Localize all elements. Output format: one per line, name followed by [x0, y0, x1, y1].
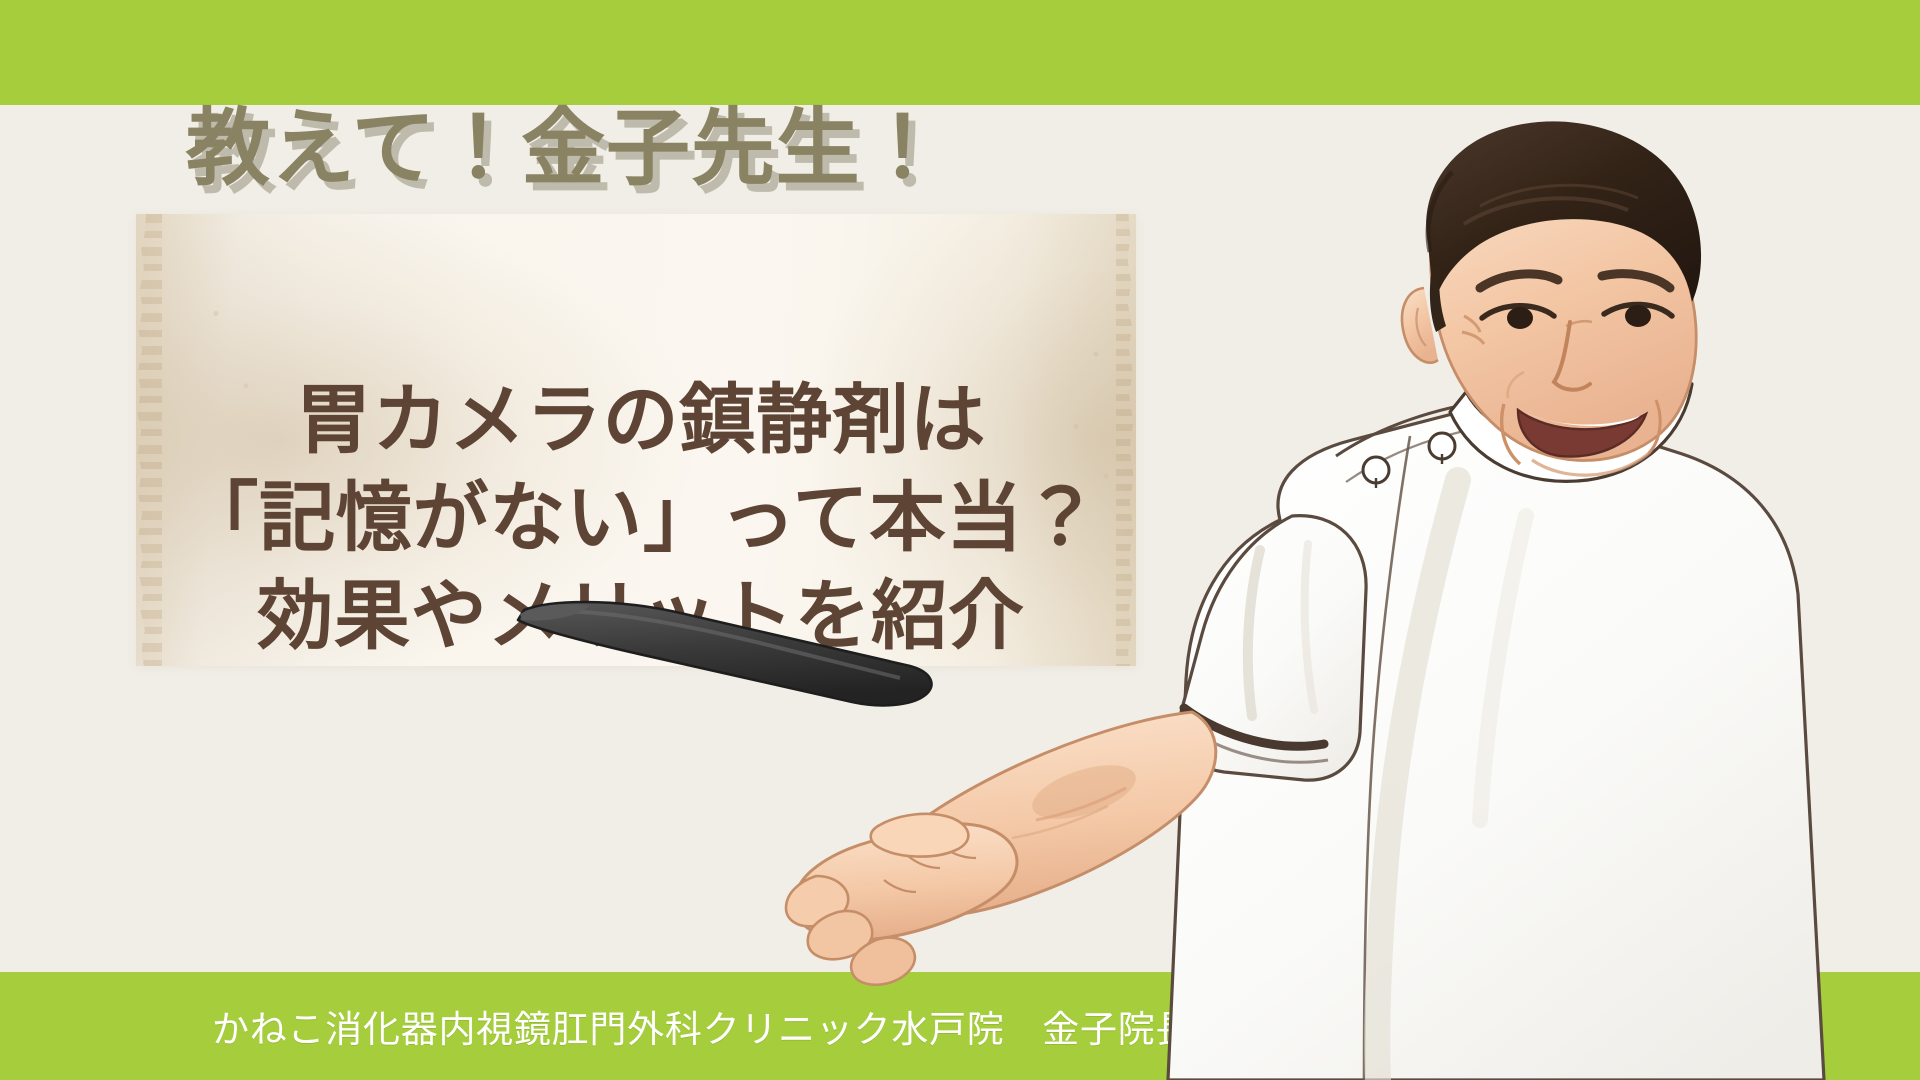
- title-line-1: 胃カメラの鎮静剤は: [136, 372, 1146, 470]
- main-title: 胃カメラの鎮静剤は 「記憶がない」って本当？ 効果やメリットを紹介: [136, 372, 1146, 666]
- eyebrow-heading: 教えて！金子先生！: [186, 104, 945, 192]
- banner-root: 教えて！金子先生！ 胃カメラの鎮静剤は 「記憶がない」って本当？ 効果やメリット…: [0, 0, 1920, 1080]
- title-line-2: 「記憶がない」って本当？: [136, 470, 1146, 568]
- top-green-bar: [0, 0, 1920, 105]
- title-line-3: 効果やメリットを紹介: [136, 568, 1146, 666]
- footer-credit: かねこ消化器内視鏡肛門外科クリニック水戸院 金子院長監修: [0, 972, 1920, 1080]
